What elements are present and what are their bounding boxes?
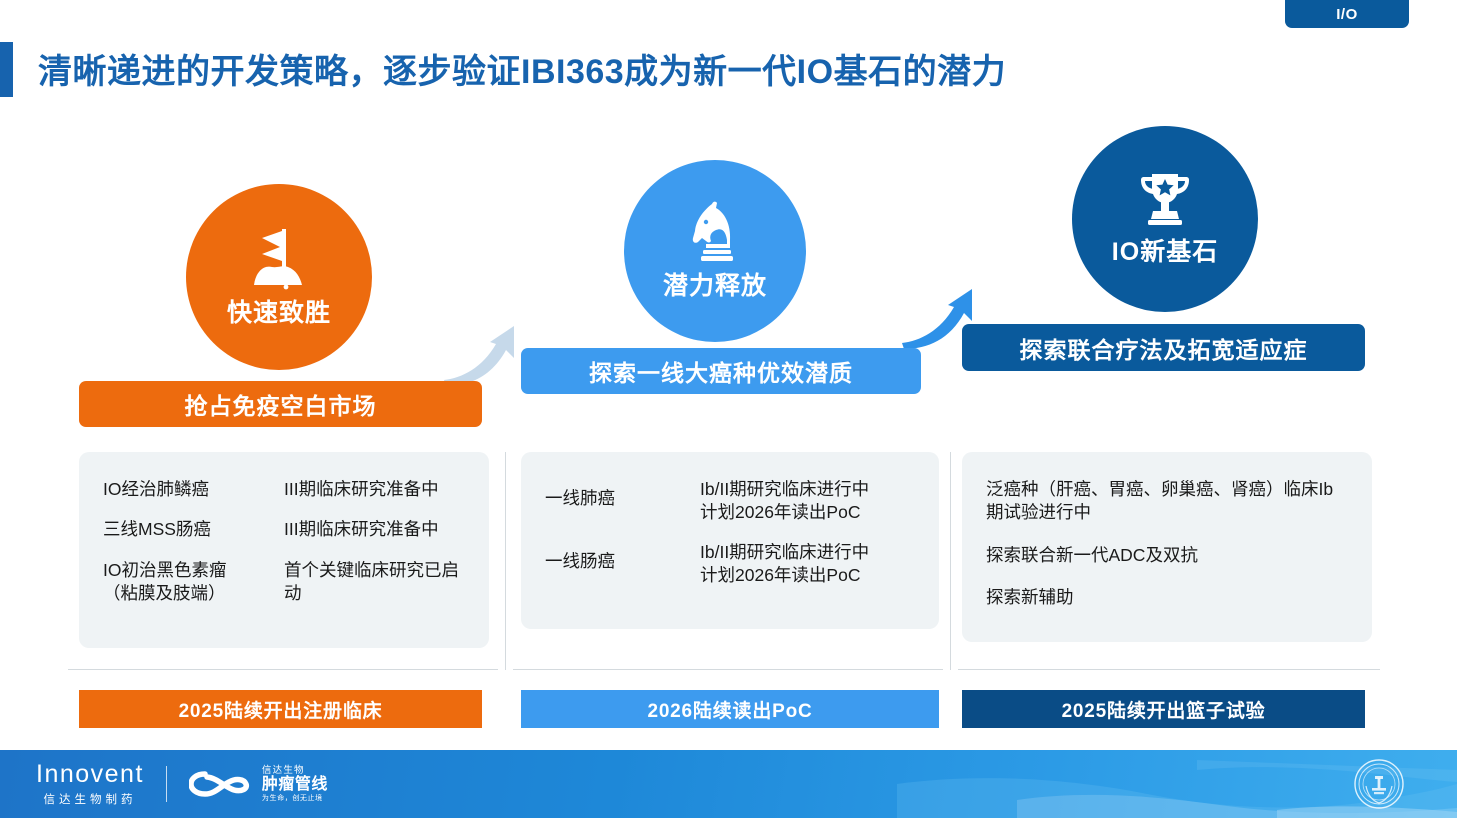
stage-ribbon-1: 抢占免疫空白市场: [79, 381, 482, 427]
indication-label: 一线肠癌: [545, 541, 700, 588]
title-accent-bar: [0, 42, 13, 97]
panel-row: IO初治黑色素瘤（粘膜及肢端） 首个关键临床研究已启动: [103, 559, 465, 606]
footer-divider: [166, 766, 167, 802]
indication-block: 泛癌种（肝癌、胃癌、卵巢癌、肾癌）临床Ib期试验进行中: [986, 478, 1348, 525]
stage-panel-3: 泛癌种（肝癌、胃癌、卵巢癌、肾癌）临床Ib期试验进行中 探索联合新一代ADC及双…: [962, 452, 1372, 642]
indication-status: III期临床研究准备中: [284, 518, 439, 541]
flag-hill-icon: [248, 225, 310, 291]
brand-chinese-name: 信达生物制药: [43, 791, 136, 807]
stage-circle-io-cornerstone: IO新基石: [1072, 126, 1258, 312]
pipeline-line-1: 信达生物: [262, 766, 328, 776]
panel-row: 三线MSS肠癌 III期临床研究准备中: [103, 518, 465, 541]
chess-knight-icon: [686, 200, 744, 262]
company-seal-icon: [1353, 758, 1405, 810]
indication-label: IO经治肺鳞癌: [103, 478, 284, 501]
stage-circle-quick-win: 快速致胜: [186, 184, 372, 370]
column-rule-1: [68, 669, 498, 670]
brand-wordmark: Innovent: [36, 761, 144, 787]
indication-label: IO初治黑色素瘤（粘膜及肢端）: [103, 559, 284, 606]
slide-footer: Innovent 信达生物制药 信达生物 肿瘤管线 为生命，创无止境: [0, 750, 1457, 818]
stage-status-bar-3: 2025陆续开出篮子试验: [962, 690, 1365, 728]
trophy-icon: [1135, 170, 1195, 228]
indication-status: III期临床研究准备中: [284, 478, 439, 501]
slide-canvas: I/O 清晰递进的开发策略，逐步验证IBI363成为新一代IO基石的潜力 快速致…: [0, 0, 1457, 818]
indication-status: Ib/II期研究临床进行中计划2026年读出PoC: [700, 478, 869, 525]
stage-ribbon-2: 探索一线大癌种优效潜质: [521, 348, 921, 394]
innovent-logo: Innovent 信达生物制药: [36, 761, 144, 806]
column-rule-3: [958, 669, 1380, 670]
stage-status-bar-2: 2026陆续读出PoC: [521, 690, 939, 728]
io-section-tag: I/O: [1285, 0, 1409, 28]
column-divider-1: [505, 452, 506, 670]
stage-circle-potential-release: 潜力释放: [624, 160, 806, 342]
pipeline-line-3: 为生命，创无止境: [262, 795, 328, 803]
indication-block: 探索联合新一代ADC及双抗: [986, 544, 1348, 567]
footer-branding: Innovent 信达生物制药 信达生物 肿瘤管线 为生命，创无止境: [36, 750, 328, 818]
stage-circle-label: 潜力释放: [663, 266, 767, 302]
progress-arrow-1: [440, 318, 530, 388]
panel-row: IO经治肺鳞癌 III期临床研究准备中: [103, 478, 465, 501]
stage-ribbon-3: 探索联合疗法及拓宽适应症: [962, 324, 1365, 371]
stage-circle-label: IO新基石: [1112, 232, 1218, 268]
stage-circle-label: 快速致胜: [227, 293, 331, 329]
indication-status: 首个关键临床研究已启动: [284, 559, 465, 606]
column-divider-2: [950, 452, 951, 670]
stage-panel-1: IO经治肺鳞癌 III期临床研究准备中 三线MSS肠癌 III期临床研究准备中 …: [79, 452, 489, 648]
indication-label: 三线MSS肠癌: [103, 518, 284, 541]
indication-status: Ib/II期研究临床进行中计划2026年读出PoC: [700, 541, 869, 588]
pipeline-line-2: 肿瘤管线: [262, 776, 328, 794]
panel-row: 一线肠癌 Ib/II期研究临床进行中计划2026年读出PoC: [545, 541, 915, 588]
indication-label: 一线肺癌: [545, 478, 700, 525]
stage-status-bar-1: 2025陆续开出注册临床: [79, 690, 482, 728]
infinity-icon: [189, 768, 251, 800]
pipeline-logo: 信达生物 肿瘤管线 为生命，创无止境: [189, 766, 328, 803]
page-title: 清晰递进的开发策略，逐步验证IBI363成为新一代IO基石的潜力: [38, 44, 1338, 93]
indication-block: 探索新辅助: [986, 586, 1348, 609]
pipeline-text: 信达生物 肿瘤管线 为生命，创无止境: [262, 766, 328, 803]
panel-row: 一线肺癌 Ib/II期研究临床进行中计划2026年读出PoC: [545, 478, 915, 525]
column-rule-2: [513, 669, 943, 670]
stage-panel-2: 一线肺癌 Ib/II期研究临床进行中计划2026年读出PoC 一线肠癌 Ib/I…: [521, 452, 939, 629]
